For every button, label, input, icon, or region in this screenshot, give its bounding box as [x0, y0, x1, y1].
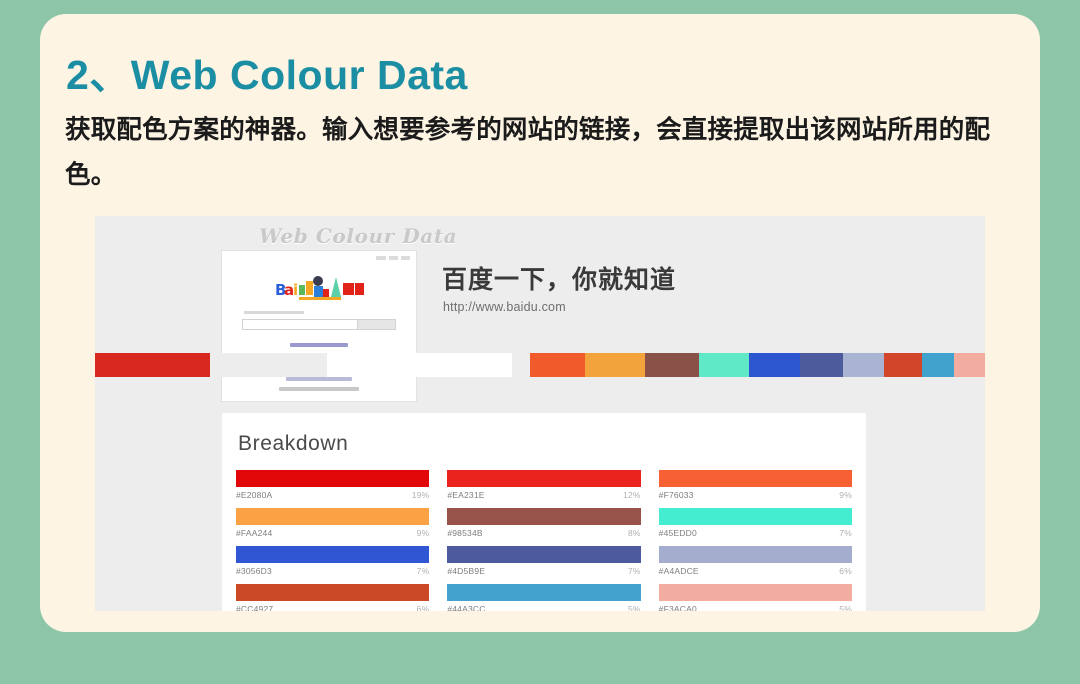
swatch-hex-label: #3056D3	[236, 566, 272, 576]
swatch-hex-label: #44A3CC	[447, 604, 485, 611]
content-card: 2、Web Colour Data 获取配色方案的神器。输入想要参考的网站的链接…	[40, 14, 1040, 632]
swatch-meta: #F760339%	[659, 487, 852, 500]
palette-strip	[95, 353, 985, 377]
thumbnail-navbar	[376, 256, 410, 260]
palette-segment	[954, 353, 985, 377]
description-text: 获取配色方案的神器。输入想要参考的网站的链接，会直接提取出该网站所用的配色。	[65, 108, 1025, 198]
colour-swatch	[659, 546, 852, 563]
swatch-hex-label: #98534B	[447, 528, 482, 538]
swatch-meta: #EA231E12%	[447, 487, 640, 500]
swatch-hex-label: #FAA244	[236, 528, 272, 538]
colour-swatch	[447, 508, 640, 525]
palette-segment	[884, 353, 921, 377]
breakdown-swatch-item: #EA231E12%	[447, 470, 640, 500]
thumbnail-link	[279, 387, 359, 391]
baidu-doodle-icon: B a i	[273, 271, 365, 305]
palette-segment	[800, 353, 843, 377]
palette-segment	[843, 353, 884, 377]
swatch-hex-label: #A4ADCE	[659, 566, 699, 576]
breakdown-swatch-item: #A4ADCE6%	[659, 546, 852, 576]
page-root: 2、Web Colour Data 获取配色方案的神器。输入想要参考的网站的链接…	[0, 0, 1080, 684]
swatch-meta: #44A3CC5%	[447, 601, 640, 611]
colour-swatch	[236, 470, 429, 487]
embedded-screenshot: Web Colour Data B a i	[95, 216, 985, 611]
palette-segment	[645, 353, 699, 377]
thumbnail-link	[286, 377, 352, 381]
site-title: 百度一下，你就知道	[442, 260, 676, 296]
colour-swatch	[236, 508, 429, 525]
colour-swatch	[447, 546, 640, 563]
swatch-meta: #3056D37%	[236, 563, 429, 576]
colour-swatch	[659, 584, 852, 601]
palette-segment	[585, 353, 645, 377]
colour-swatch	[236, 584, 429, 601]
swatch-hex-label: #F3ACA0	[659, 604, 697, 611]
colour-swatch	[447, 584, 640, 601]
swatch-hex-label: #CC4927	[236, 604, 273, 611]
swatch-hex-label: #E2080A	[236, 490, 272, 500]
site-thumbnail: B a i	[221, 250, 417, 402]
palette-segment	[749, 353, 801, 377]
swatch-percent-label: 5%	[839, 604, 852, 611]
swatch-meta: #45EDD07%	[659, 525, 852, 538]
swatch-percent-label: 8%	[628, 528, 641, 538]
site-url: http://www.baidu.com	[443, 300, 566, 314]
palette-segment	[95, 353, 210, 377]
breakdown-swatch-item: #44A3CC5%	[447, 584, 640, 611]
breakdown-panel: Breakdown #E2080A19%#EA231E12%#F760339%#…	[221, 412, 867, 611]
swatch-percent-label: 9%	[839, 490, 852, 500]
thumbnail-search-button	[357, 320, 395, 329]
swatch-meta: #CC49276%	[236, 601, 429, 611]
breakdown-title: Breakdown	[238, 432, 348, 456]
web-colour-data-logo: Web Colour Data	[259, 224, 457, 248]
colour-swatch	[659, 470, 852, 487]
breakdown-grid: #E2080A19%#EA231E12%#F760339%#FAA2449%#9…	[236, 470, 852, 611]
breakdown-swatch-item: #3056D37%	[236, 546, 429, 576]
swatch-meta: #98534B8%	[447, 525, 640, 538]
palette-segment	[922, 353, 954, 377]
thumbnail-link	[290, 343, 348, 347]
swatch-meta: #F3ACA05%	[659, 601, 852, 611]
swatch-meta: #4D5B9E7%	[447, 563, 640, 576]
palette-segment	[699, 353, 748, 377]
swatch-percent-label: 7%	[417, 566, 430, 576]
palette-segment	[327, 353, 512, 377]
colour-swatch	[659, 508, 852, 525]
page-title: 2、Web Colour Data	[66, 41, 468, 101]
breakdown-swatch-item: #CC49276%	[236, 584, 429, 611]
breakdown-swatch-item: #98534B8%	[447, 508, 640, 538]
swatch-hex-label: #F76033	[659, 490, 694, 500]
swatch-percent-label: 6%	[417, 604, 430, 611]
thumbnail-tab-label	[244, 311, 304, 314]
swatch-percent-label: 9%	[417, 528, 430, 538]
swatch-percent-label: 6%	[839, 566, 852, 576]
swatch-percent-label: 19%	[412, 490, 430, 500]
swatch-hex-label: #4D5B9E	[447, 566, 485, 576]
swatch-percent-label: 5%	[628, 604, 641, 611]
palette-segment	[210, 353, 327, 377]
breakdown-swatch-item: #E2080A19%	[236, 470, 429, 500]
breakdown-swatch-item: #45EDD07%	[659, 508, 852, 538]
breakdown-swatch-item: #FAA2449%	[236, 508, 429, 538]
swatch-percent-label: 7%	[628, 566, 641, 576]
swatch-hex-label: #45EDD0	[659, 528, 697, 538]
swatch-percent-label: 7%	[839, 528, 852, 538]
swatch-meta: #A4ADCE6%	[659, 563, 852, 576]
breakdown-swatch-item: #F3ACA05%	[659, 584, 852, 611]
palette-segment	[530, 353, 584, 377]
swatch-hex-label: #EA231E	[447, 490, 484, 500]
swatch-percent-label: 12%	[623, 490, 641, 500]
swatch-meta: #E2080A19%	[236, 487, 429, 500]
palette-segment	[512, 353, 530, 377]
thumbnail-search-box	[242, 319, 396, 330]
swatch-meta: #FAA2449%	[236, 525, 429, 538]
svg-text:i: i	[293, 281, 298, 299]
breakdown-swatch-item: #F760339%	[659, 470, 852, 500]
colour-swatch	[236, 546, 429, 563]
breakdown-swatch-item: #4D5B9E7%	[447, 546, 640, 576]
colour-swatch	[447, 470, 640, 487]
